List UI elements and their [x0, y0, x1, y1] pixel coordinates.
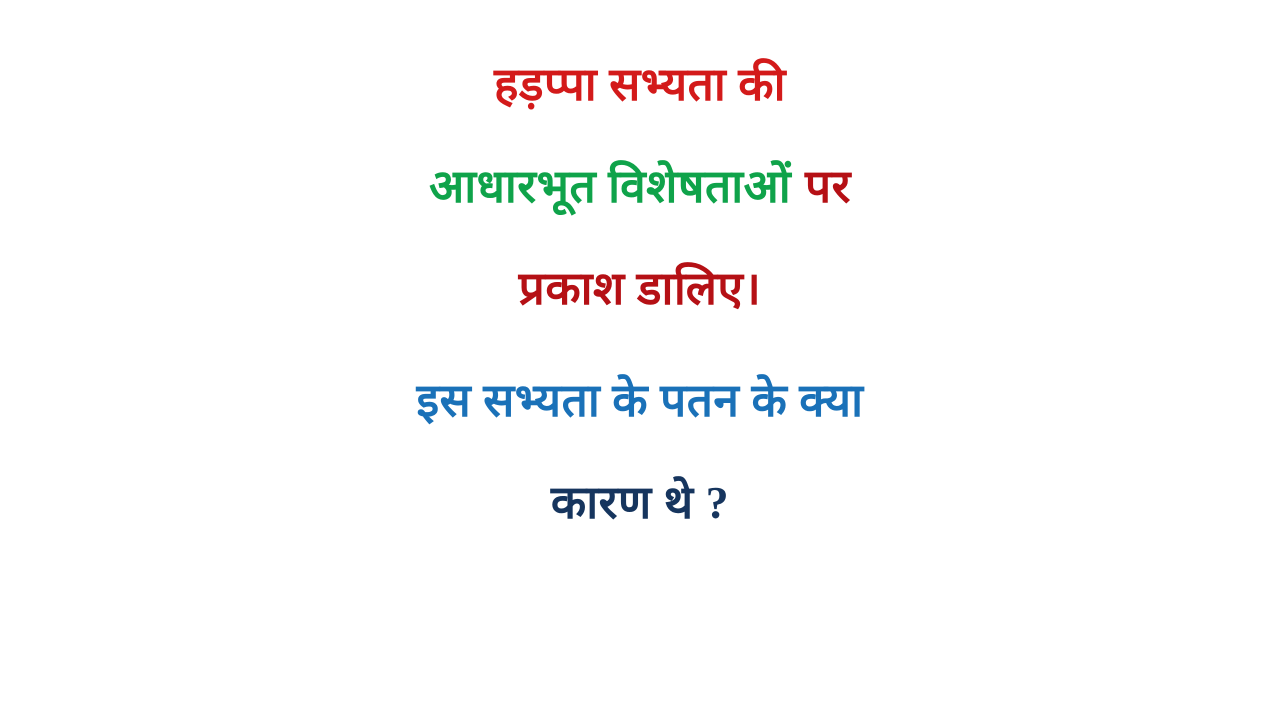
question-line-4: इस सभ्यता के पतन के क्या — [0, 312, 1280, 424]
question-text-block: हड़प्पा सभ्यता की आधारभूत विशेषताओंपर प्… — [0, 40, 1280, 526]
question-line-3: प्रकाश डालिए। — [0, 210, 1280, 312]
question-line-1: हड़प्पा सभ्यता की — [0, 40, 1280, 108]
question-line-1-segment-1: हड़प्पा सभ्यता की — [494, 59, 786, 110]
question-line-2: आधारभूत विशेषताओंपर — [0, 108, 1280, 210]
question-line-2-segment-1: आधारभूत विशेषताओं — [429, 161, 791, 212]
question-line-2-segment-2: पर — [805, 161, 851, 212]
question-line-5: कारण थे ? — [0, 424, 1280, 526]
slide-canvas: हड़प्पा सभ्यता की आधारभूत विशेषताओंपर प्… — [0, 0, 1280, 720]
question-line-3-segment-1: प्रकाश डालिए। — [519, 263, 762, 314]
question-line-4-segment-1: इस सभ्यता के पतन के क्या — [417, 375, 864, 426]
question-line-5-segment-1: कारण थे ? — [551, 477, 729, 528]
